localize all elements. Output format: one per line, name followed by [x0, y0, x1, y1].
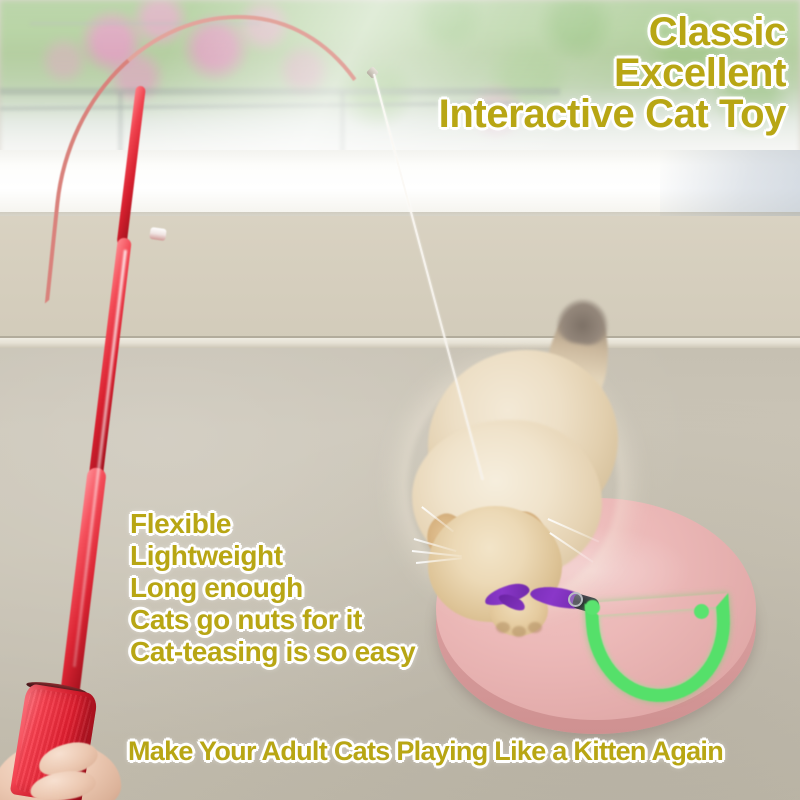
- feature-list: Flexible Lightweight Long enough Cats go…: [130, 508, 415, 668]
- headline-line-2: Excellent: [439, 53, 786, 94]
- worm-end-right: [694, 604, 709, 619]
- worm-end-left: [585, 600, 600, 615]
- cat-toe: [512, 626, 526, 637]
- feature-item-flexible: Flexible: [130, 508, 415, 540]
- feature-item-cats-go-nuts: Cats go nuts for it: [130, 604, 415, 636]
- toy-clip-ring: [568, 592, 583, 607]
- headline-line-1: Classic: [439, 12, 786, 53]
- cat-toe: [496, 622, 510, 633]
- tagline: Make Your Adult Cats Playing Like a Kitt…: [128, 736, 723, 767]
- product-ad-image: Classic Excellent Interactive Cat Toy Fl…: [0, 0, 800, 800]
- feature-item-long-enough: Long enough: [130, 572, 415, 604]
- window-sill-shadow-right: [660, 150, 800, 220]
- feature-item-lightweight: Lightweight: [130, 540, 415, 572]
- headline-line-3: Interactive Cat Toy: [439, 94, 786, 135]
- feature-item-cat-teasing: Cat-teasing is so easy: [130, 636, 415, 668]
- cat-toe: [528, 622, 542, 633]
- wand-rod-joint-ferrule: [149, 227, 167, 241]
- headline: Classic Excellent Interactive Cat Toy: [439, 12, 786, 135]
